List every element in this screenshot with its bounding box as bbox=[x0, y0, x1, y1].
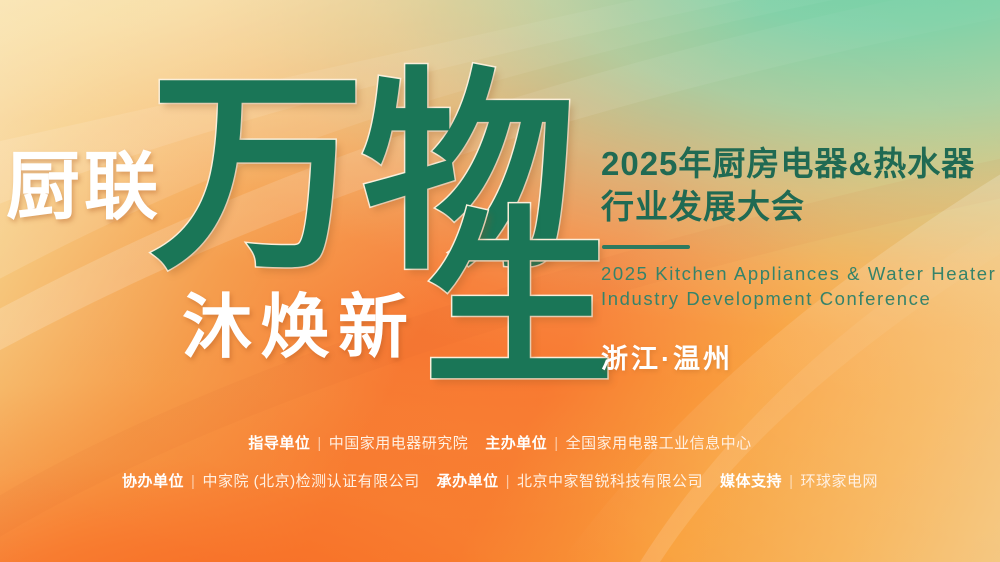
credit-label: 媒体支持 bbox=[720, 473, 782, 490]
hero-slogan-lockup: 厨联 万物 沐焕新 生 bbox=[0, 0, 600, 420]
credit-separator: | bbox=[506, 473, 510, 490]
credit-separator: | bbox=[317, 435, 321, 452]
credit-label: 协办单位 bbox=[122, 473, 184, 490]
credit-value: 环球家电网 bbox=[800, 473, 878, 490]
credit-label: 承办单位 bbox=[437, 473, 499, 490]
credit-separator: | bbox=[554, 435, 558, 452]
credit-value: 全国家用电器工业信息中心 bbox=[566, 435, 752, 452]
conference-title-line1: 2025年厨房电器&热水器 bbox=[601, 142, 1000, 185]
slogan-chulian: 厨联 bbox=[6, 150, 162, 224]
credit-value: 北京中家智锐科技有限公司 bbox=[517, 473, 703, 490]
organiser-credits: 指导单位|中国家用电器研究院主办单位|全国家用电器工业信息中心 协办单位|中家院… bbox=[0, 425, 1000, 501]
credit-separator: | bbox=[191, 473, 195, 490]
title-divider-rule bbox=[602, 245, 690, 249]
credit-value: 中家院 (北京)检测认证有限公司 bbox=[202, 473, 419, 490]
credits-line-1: 指导单位|中国家用电器研究院主办单位|全国家用电器工业信息中心 bbox=[0, 425, 1000, 463]
credits-line-2: 协办单位|中家院 (北京)检测认证有限公司承办单位|北京中家智锐科技有限公司媒体… bbox=[0, 463, 1000, 501]
slogan-muhuanxin: 沐焕新 bbox=[182, 292, 416, 362]
conference-subtitle-en-line1: 2025 Kitchen Appliances & Water Heater bbox=[601, 261, 1000, 286]
credit-separator: | bbox=[789, 473, 793, 490]
slogan-sheng: 生 bbox=[424, 208, 614, 398]
conference-info-block: 2025年厨房电器&热水器 行业发展大会 2025 Kitchen Applia… bbox=[601, 142, 1000, 376]
credit-label: 主办单位 bbox=[485, 435, 547, 452]
credit-value: 中国家用电器研究院 bbox=[329, 435, 469, 452]
conference-poster: 厨联 万物 沐焕新 生 2025年厨房电器&热水器 行业发展大会 2025 Ki… bbox=[0, 0, 1000, 562]
conference-location: 浙江·温州 bbox=[601, 337, 1000, 376]
conference-title-line2: 行业发展大会 bbox=[601, 185, 1000, 228]
conference-subtitle-en-line2: Industry Development Conference bbox=[601, 286, 1000, 311]
credit-label: 指导单位 bbox=[248, 435, 310, 452]
